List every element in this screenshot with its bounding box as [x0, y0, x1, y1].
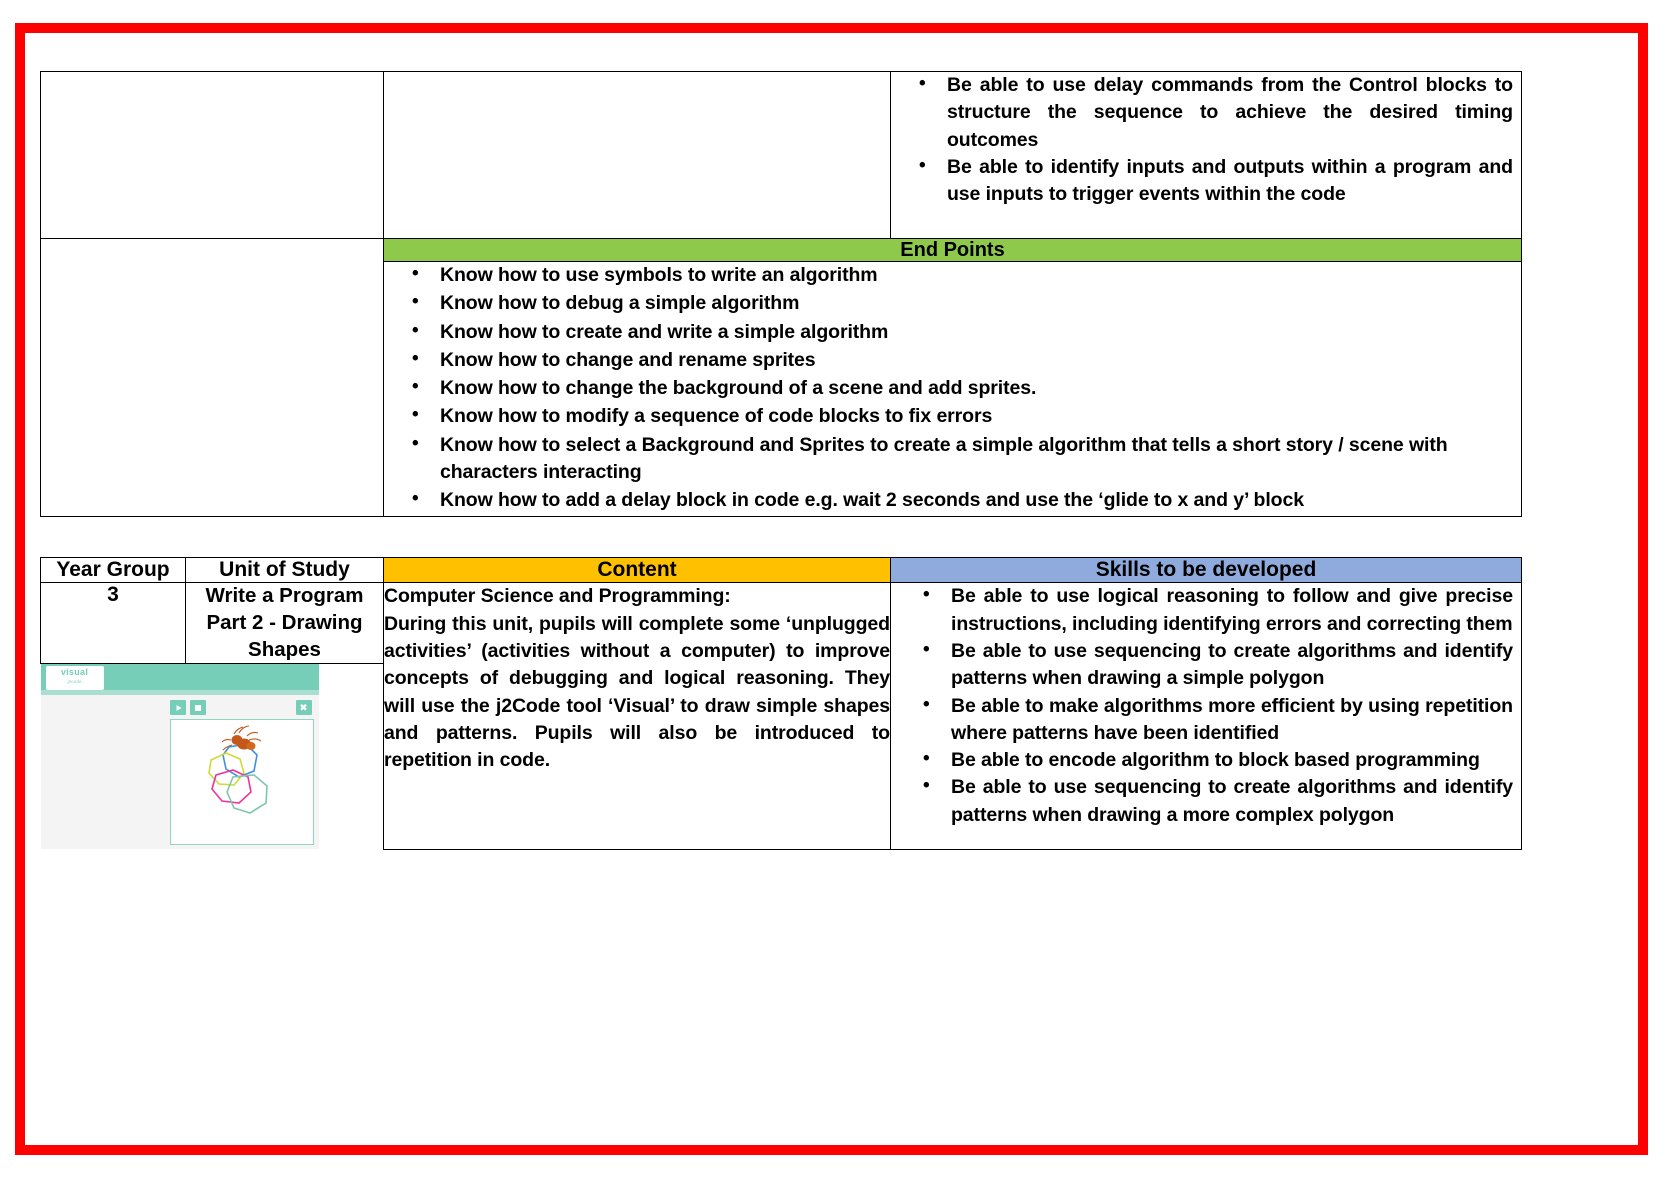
table-row: End Points [41, 239, 1522, 262]
document-page: Be able to use delay commands from the C… [0, 0, 1676, 1178]
table-row: Be able to use delay commands from the C… [41, 72, 1522, 239]
visual-app-logo: visual j2code [46, 666, 104, 690]
top-skills-list: Be able to use delay commands from the C… [891, 72, 1521, 208]
cell-unit-thumbnail: visual j2code ✖ [41, 664, 384, 850]
column-header-unit-of-study: Unit of Study [186, 558, 384, 583]
list-item: Know how to select a Background and Spri… [440, 432, 1515, 487]
top-empty-cell-b [384, 72, 891, 239]
list-item: Know how to modify a sequence of code bl… [440, 403, 1515, 430]
cell-year-group: 3 [41, 583, 186, 664]
column-header-content: Content [384, 558, 891, 583]
list-item: Be able to use delay commands from the C… [947, 72, 1515, 154]
column-header-year-group: Year Group [41, 558, 186, 583]
ant-abdomen [246, 742, 255, 750]
list-item: Be able to use sequencing to create algo… [951, 774, 1515, 829]
list-item: Be able to use logical reasoning to foll… [951, 583, 1515, 638]
list-item: Know how to change the background of a s… [440, 375, 1515, 402]
curriculum-table-top: Be able to use delay commands from the C… [40, 71, 1522, 517]
end-points-list: Know how to use symbols to write an algo… [384, 262, 1521, 515]
table-row: 3 Write a Program Part 2 - Drawing Shape… [41, 583, 1522, 664]
list-item: Know how to add a delay block in code e.… [440, 487, 1515, 514]
app-logo-subtitle: j2code [46, 679, 104, 685]
list-item: Be able to make algorithms more efficien… [951, 693, 1515, 748]
list-item: Know how to use symbols to write an algo… [440, 262, 1515, 289]
top-empty-cell-a2 [41, 239, 384, 262]
drawing-stage [170, 719, 314, 845]
top-empty-cell-a [41, 72, 384, 239]
skills-list: Be able to use logical reasoning to foll… [891, 583, 1521, 829]
end-points-band: End Points [384, 239, 1522, 262]
list-item: Be able to identify inputs and outputs w… [947, 154, 1515, 209]
j2code-visual-screenshot: visual j2code ✖ [41, 664, 319, 849]
table-header-row: Year Group Unit of Study Content Skills … [41, 558, 1522, 583]
list-item: Be able to encode algorithm to block bas… [951, 747, 1515, 774]
cell-unit-of-study: Write a Program Part 2 - Drawing Shapes [186, 583, 384, 664]
play-icon[interactable] [170, 700, 186, 715]
content-lead-line: Computer Science and Programming: [384, 583, 890, 610]
polygon-drawing [171, 720, 312, 843]
content-body-text: During this unit, pupils will complete s… [384, 613, 890, 771]
app-logo-name: visual [46, 666, 104, 679]
cell-skills: Be able to use logical reasoning to foll… [891, 583, 1522, 849]
end-points-cell: Know how to use symbols to write an algo… [384, 262, 1522, 517]
list-item: Be able to use sequencing to create algo… [951, 638, 1515, 693]
list-item: Know how to change and rename sprites [440, 347, 1515, 374]
expand-icon[interactable]: ✖ [296, 700, 312, 715]
stop-icon[interactable] [190, 700, 206, 715]
top-skills-cell: Be able to use delay commands from the C… [891, 72, 1522, 239]
column-header-skills: Skills to be developed [891, 558, 1522, 583]
list-item: Know how to debug a simple algorithm [440, 290, 1515, 317]
list-item: Know how to create and write a simple al… [440, 319, 1515, 346]
curriculum-table-bottom: Year Group Unit of Study Content Skills … [40, 557, 1522, 850]
polygon-green [227, 775, 267, 813]
table-row: Know how to use symbols to write an algo… [41, 262, 1522, 517]
stage-toolbar: ✖ [170, 699, 314, 717]
cell-content: Computer Science and Programming:During … [384, 583, 891, 849]
top-empty-cell-a3 [41, 262, 384, 517]
polygon-pink [212, 770, 251, 803]
